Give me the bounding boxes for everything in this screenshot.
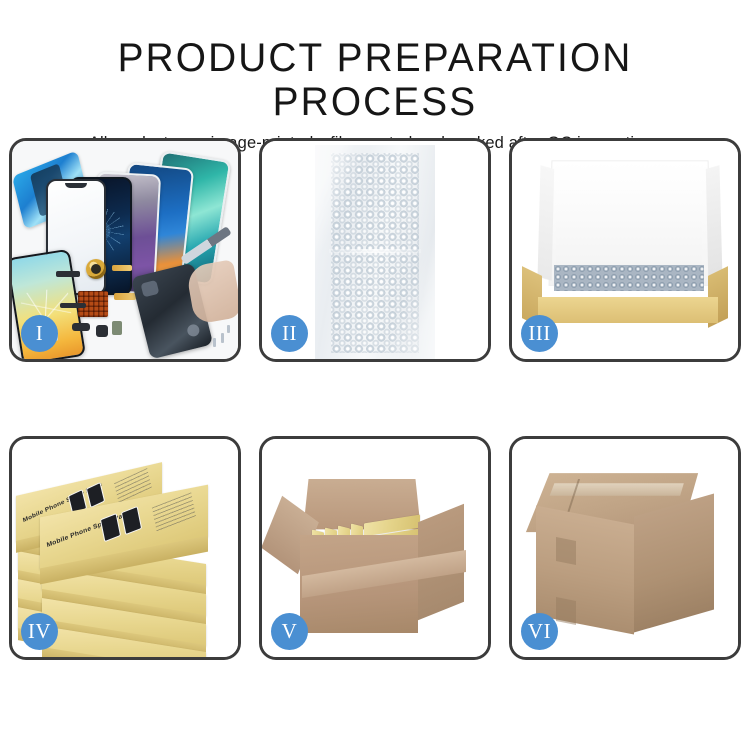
step-card-4: Mobile Phone Spare Parts Mobile Phone Sp… [9, 436, 241, 660]
screw-icon [227, 325, 230, 333]
page-title: PRODUCT PREPARATION PROCESS [11, 0, 739, 124]
speaker-coil-icon [86, 259, 106, 279]
header: PRODUCT PREPARATION PROCESS All products… [0, 0, 750, 153]
screw-icon [221, 333, 224, 343]
step-card-3: III [509, 138, 741, 362]
infographic-page: PRODUCT PREPARATION PROCESS All products… [0, 0, 750, 750]
packing-tape-icon [550, 483, 684, 495]
flex-cable-icon [112, 265, 132, 271]
carton-right-face [634, 494, 714, 633]
box-inner-panel [556, 191, 702, 267]
step-card-2: II [259, 138, 491, 362]
flex-cable-icon [114, 293, 136, 300]
step-card-6: VI [509, 436, 741, 660]
carton-tab [556, 597, 576, 625]
step-badge-3: III [521, 315, 558, 352]
connector-icon [72, 323, 90, 331]
bubble-wrap-pouch-icon [315, 145, 435, 359]
button-part-icon [96, 325, 108, 337]
box-spec-text [152, 492, 196, 532]
process-steps-grid: I II III [9, 138, 741, 684]
screw-icon [213, 338, 216, 347]
step-badge-4: IV [21, 613, 58, 650]
bubble-wrap-contents-icon [554, 265, 704, 291]
step-badge-2: II [271, 315, 308, 352]
step-badge-1: I [21, 315, 58, 352]
battery-part-icon [112, 321, 122, 335]
step-badge-6: VI [521, 613, 558, 650]
carton-tab [556, 537, 576, 565]
chip-icon [60, 303, 86, 308]
box-screen-image [121, 506, 142, 535]
carton-left-face [536, 505, 634, 634]
step-badge-5: V [271, 613, 308, 650]
step-card-5: V [259, 436, 491, 660]
pouch-sheen [315, 145, 435, 359]
chip-icon [56, 271, 80, 277]
step-card-1: I [9, 138, 241, 362]
box-front-wall [538, 297, 718, 323]
